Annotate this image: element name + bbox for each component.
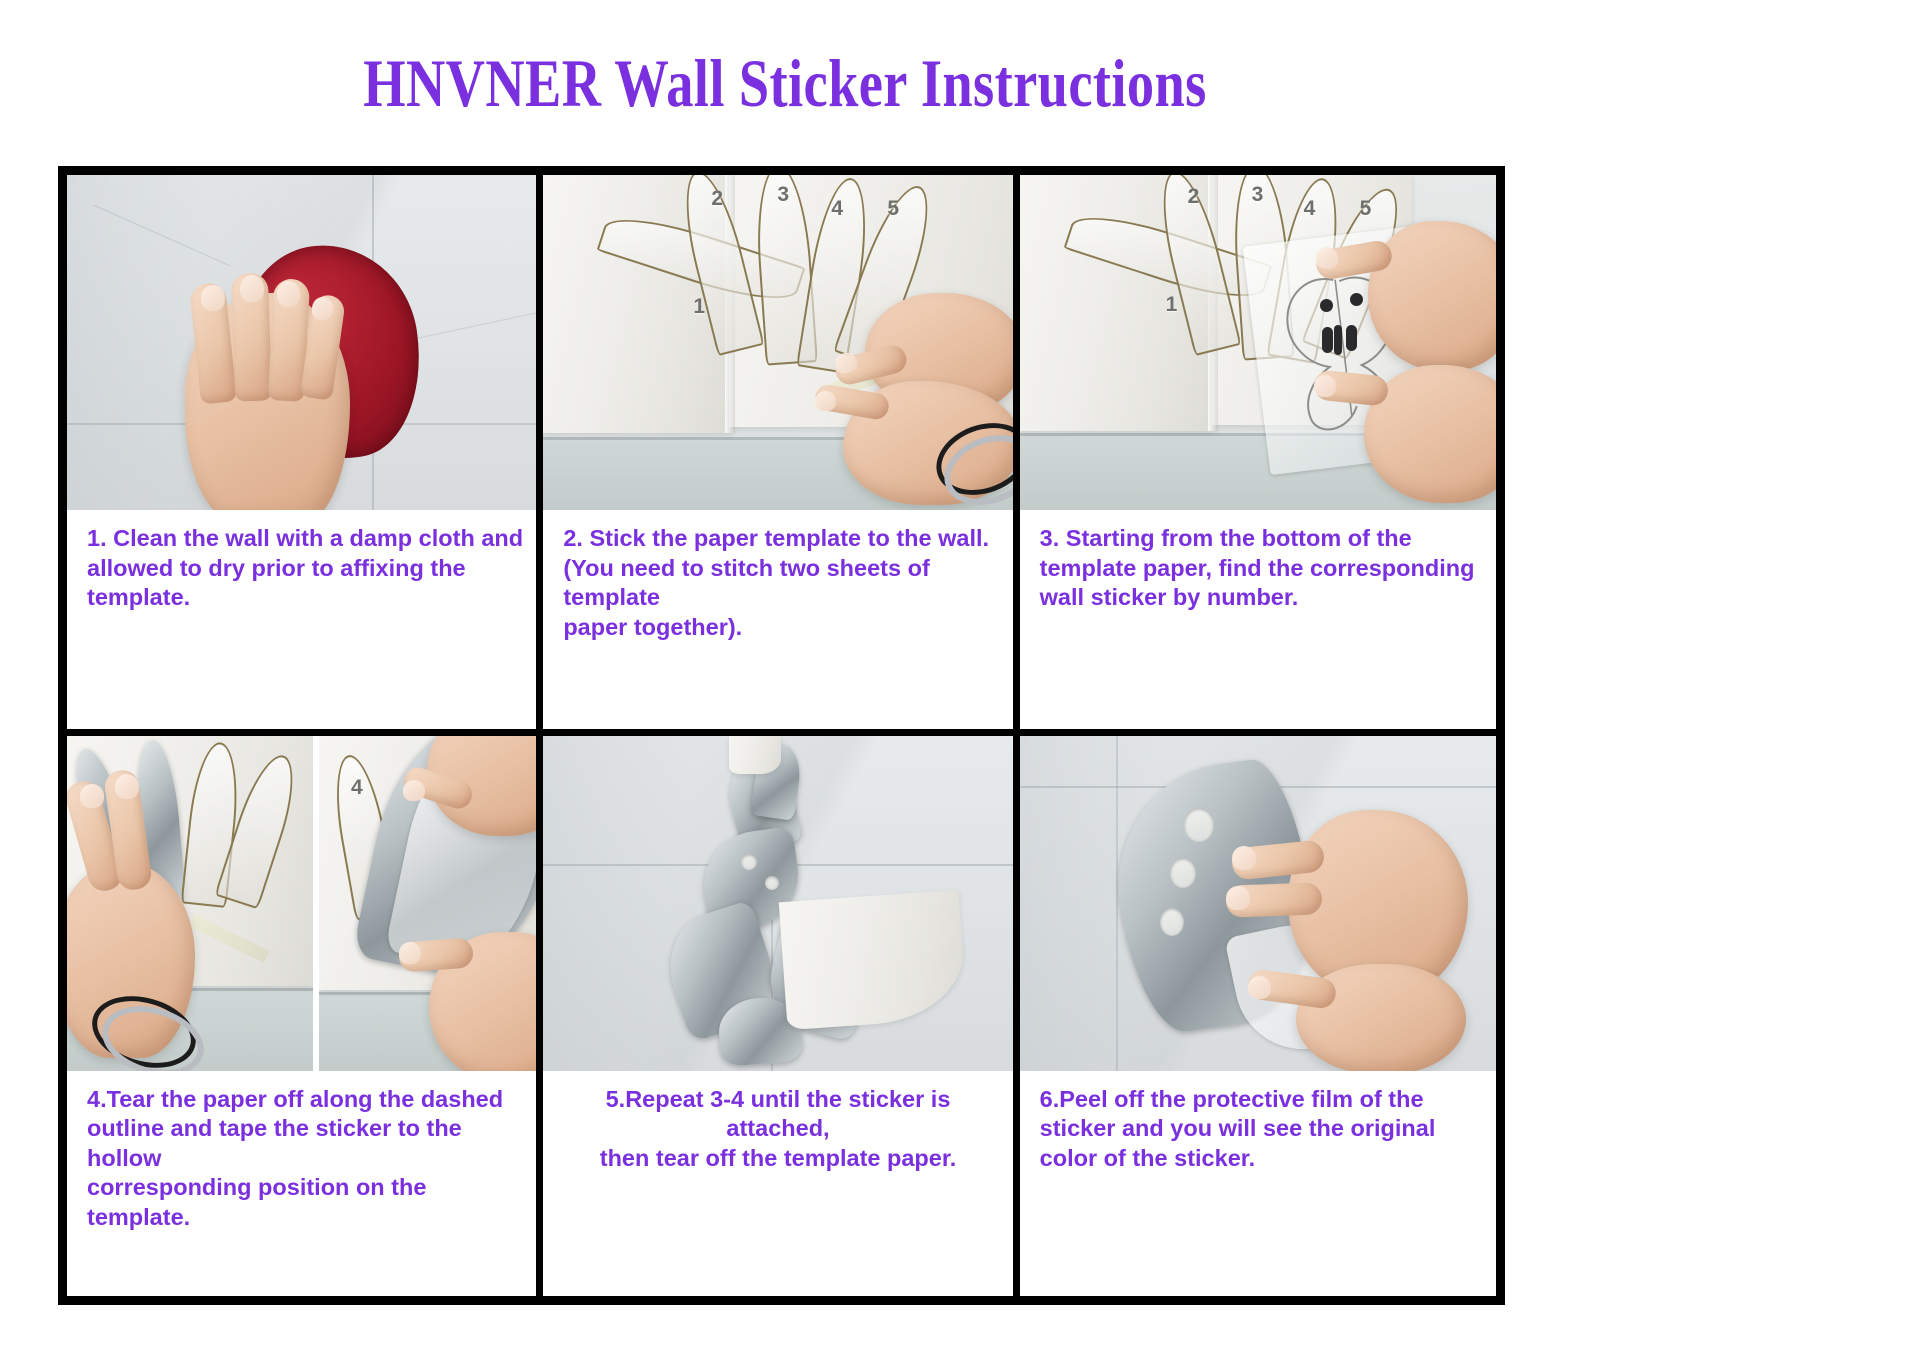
nail-lower-index <box>1314 375 1336 397</box>
template-number-2: 2 <box>1188 185 1200 209</box>
nail-hold-thumb <box>1248 976 1271 999</box>
photo-sticking-paper-template: 1 2 3 4 5 <box>543 175 1012 510</box>
instruction-step-6: 6.Peel off the protective film of the st… <box>1020 736 1496 1297</box>
photo-matching-sticker-by-number: 1 2 3 4 5 <box>1020 175 1496 510</box>
nail-peel-1 <box>1232 846 1256 870</box>
template-number-5: 5 <box>1360 197 1372 221</box>
sticker-hole-2 <box>765 876 779 890</box>
nail-lower-index <box>399 942 421 964</box>
nail-peel-thumb <box>115 774 139 799</box>
instruction-step-3: 1 2 3 4 5 <box>1020 175 1496 736</box>
template-number-4: 4 <box>831 197 843 221</box>
template-number-3: 3 <box>1252 183 1264 207</box>
photo-repeat-until-attached <box>543 736 1012 1071</box>
nail-pinky <box>312 297 333 320</box>
instruction-sheet: HNVNER Wall Sticker Instructions <box>0 0 1920 1357</box>
butterfly-hole-5 <box>1334 325 1342 355</box>
nail-peel-index <box>80 784 104 808</box>
step-caption-6: 6.Peel off the protective film of the st… <box>1020 1071 1496 1297</box>
nail-lower-thumb <box>815 391 836 411</box>
step-caption-3: 3. Starting from the bottom of the templ… <box>1020 510 1496 729</box>
wing-hole-1 <box>1184 808 1214 842</box>
photo-peeling-protective-film <box>1020 736 1496 1071</box>
template-number-4: 4 <box>351 776 363 800</box>
butterfly-hole-3 <box>1322 327 1333 353</box>
template-number-2: 2 <box>711 187 723 211</box>
sticker-hole-1 <box>741 854 757 870</box>
template-paper-fragment <box>729 736 781 774</box>
template-number-1: 1 <box>1166 293 1178 317</box>
wall-tile-seam-v <box>1116 736 1118 1071</box>
page-title: HNVNER Wall Sticker Instructions <box>157 46 1413 120</box>
subphoto-tape-sticker: 4 <box>319 736 536 1071</box>
wing-hole-2 <box>1170 858 1196 888</box>
nail-index <box>201 285 225 311</box>
template-number-4: 4 <box>1304 197 1316 221</box>
instruction-step-4: 4 4.Tear the paper off along the dashed … <box>67 736 543 1297</box>
step-caption-1: 1. Clean the wall with a damp cloth and … <box>67 510 536 729</box>
nail-middle <box>240 275 264 302</box>
nail-peel-2 <box>1226 886 1250 910</box>
template-number-3: 3 <box>777 183 789 207</box>
photo-tearing-and-taping-sticker: 4 <box>67 736 536 1071</box>
step-caption-4: 4.Tear the paper off along the dashed ou… <box>67 1071 536 1297</box>
instruction-step-2: 1 2 3 4 5 2. Stick th <box>543 175 1019 736</box>
instruction-step-5: 5.Repeat 3-4 until the sticker is attach… <box>543 736 1019 1297</box>
instruction-grid: 1. Clean the wall with a damp cloth and … <box>58 166 1505 1305</box>
butterfly-hole-4 <box>1346 325 1357 351</box>
butterfly-hole-1 <box>1320 299 1333 312</box>
nail-ring <box>277 281 300 307</box>
step-caption-2: 2. Stick the paper template to the wall.… <box>543 510 1012 729</box>
wing-hole-3 <box>1160 908 1184 936</box>
step-caption-5: 5.Repeat 3-4 until the sticker is attach… <box>543 1071 1012 1297</box>
photo-cleaning-wall-with-red-cloth <box>67 175 536 510</box>
nail-upper-index <box>403 780 425 801</box>
subphoto-tear-paper <box>67 736 313 1071</box>
template-number-5: 5 <box>887 197 899 221</box>
nail-right-index <box>1316 247 1338 269</box>
instruction-step-1: 1. Clean the wall with a damp cloth and … <box>67 175 543 736</box>
butterfly-hole-2 <box>1350 293 1363 306</box>
